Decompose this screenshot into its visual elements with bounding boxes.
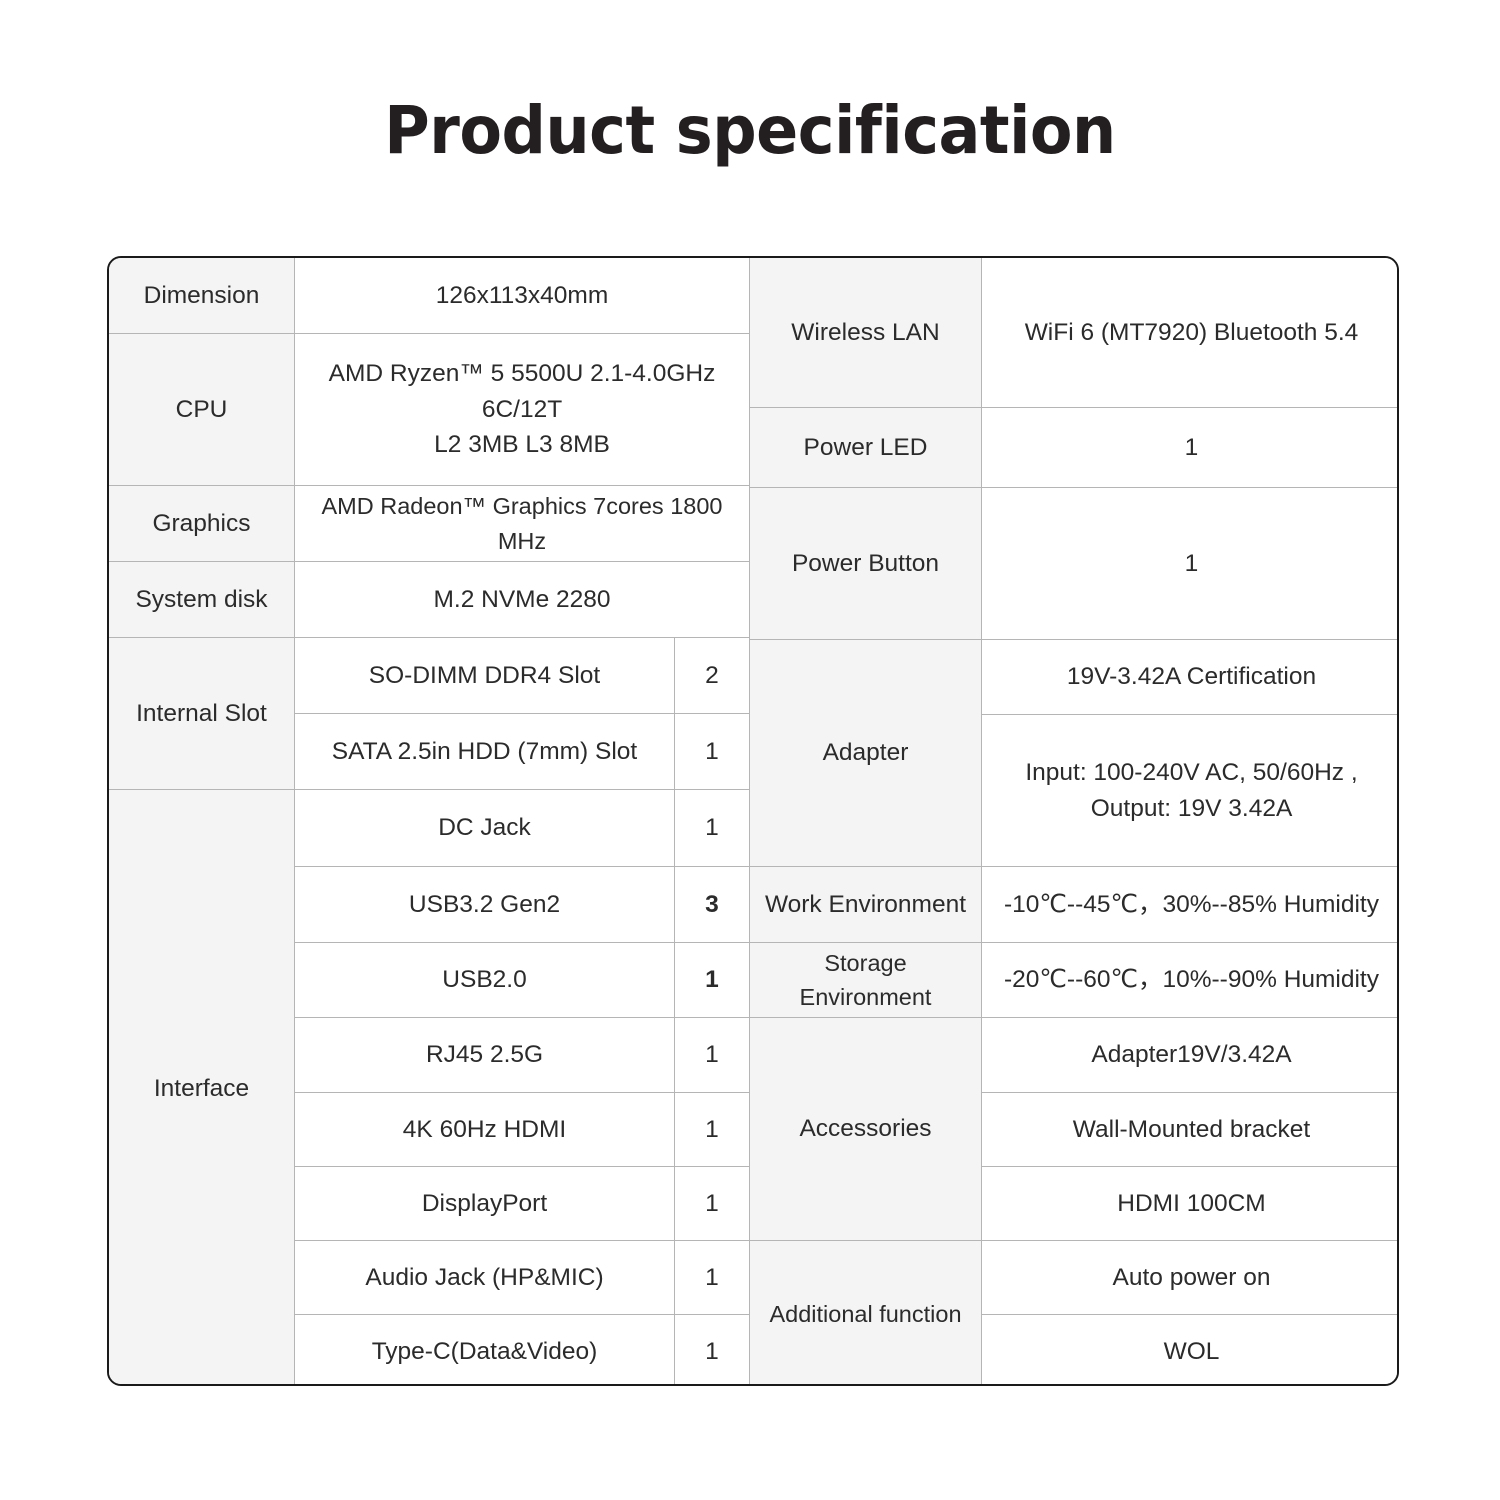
spec-value-dc-jack: DC Jack [295, 790, 675, 867]
spec-value-adapter-certification: 19V-3.42A Certification [982, 640, 1399, 715]
spec-value-wireless-lan: WiFi 6 (MT7920) Bluetooth 5.4 [982, 258, 1399, 408]
spec-value-work-environment: -10℃--45℃，30%--85% Humidity [982, 867, 1399, 943]
spec-label-interface: Interface [109, 790, 295, 1386]
product-specification-page: Product specification Dimension 126x113x… [0, 0, 1500, 1500]
spec-value-wol: WOL [982, 1315, 1399, 1386]
spec-label-internal-slot: Internal Slot [109, 638, 295, 790]
specification-table: Dimension 126x113x40mm CPU AMD Ryzen™ 5 … [107, 256, 1399, 1386]
spec-value-power-led: 1 [982, 408, 1399, 488]
spec-label-additional-function: Additional function [750, 1241, 982, 1386]
spec-label-power-button: Power Button [750, 488, 982, 640]
spec-qty-audio-jack: 1 [675, 1241, 750, 1315]
spec-qty-dc-jack: 1 [675, 790, 750, 867]
spec-label-work-environment: Work Environment [750, 867, 982, 943]
spec-label-accessories: Accessories [750, 1018, 982, 1241]
spec-value-accessory-bracket: Wall-Mounted bracket [982, 1093, 1399, 1167]
spec-value-graphics: AMD Radeon™ Graphics 7cores 1800 MHz [295, 486, 750, 562]
spec-value-accessory-hdmi-cable: HDMI 100CM [982, 1167, 1399, 1241]
spec-label-adapter: Adapter [750, 640, 982, 867]
spec-value-adapter-input-output: Input: 100-240V AC, 50/60Hz , Output: 19… [982, 715, 1399, 867]
spec-label-wireless-lan: Wireless LAN [750, 258, 982, 408]
spec-value-dimension: 126x113x40mm [295, 258, 750, 334]
spec-value-displayport: DisplayPort [295, 1167, 675, 1241]
spec-value-sodimm-slot: SO-DIMM DDR4 Slot [295, 638, 675, 714]
spec-qty-rj45: 1 [675, 1018, 750, 1093]
spec-qty-sodimm-slot: 2 [675, 638, 750, 714]
spec-value-system-disk: M.2 NVMe 2280 [295, 562, 750, 638]
spec-qty-usb32-gen2: 3 [675, 867, 750, 943]
spec-label-dimension: Dimension [109, 258, 295, 334]
spec-value-power-button: 1 [982, 488, 1399, 640]
spec-label-power-led: Power LED [750, 408, 982, 488]
spec-value-sata-slot: SATA 2.5in HDD (7mm) Slot [295, 714, 675, 790]
spec-qty-usb20: 1 [675, 943, 750, 1018]
spec-label-storage-environment: Storage Environment [750, 943, 982, 1018]
spec-label-cpu: CPU [109, 334, 295, 486]
spec-value-hdmi: 4K 60Hz HDMI [295, 1093, 675, 1167]
spec-value-rj45: RJ45 2.5G [295, 1018, 675, 1093]
spec-value-accessory-adapter: Adapter19V/3.42A [982, 1018, 1399, 1093]
spec-qty-type-c: 1 [675, 1315, 750, 1386]
spec-qty-displayport: 1 [675, 1167, 750, 1241]
spec-value-audio-jack: Audio Jack (HP&MIC) [295, 1241, 675, 1315]
spec-value-usb32-gen2: USB3.2 Gen2 [295, 867, 675, 943]
spec-value-cpu: AMD Ryzen™ 5 5500U 2.1-4.0GHz 6C/12T L2 … [295, 334, 750, 486]
spec-value-storage-environment: -20℃--60℃，10%--90% Humidity [982, 943, 1399, 1018]
spec-value-auto-power-on: Auto power on [982, 1241, 1399, 1315]
spec-label-graphics: Graphics [109, 486, 295, 562]
spec-qty-hdmi: 1 [675, 1093, 750, 1167]
spec-value-type-c: Type-C(Data&Video) [295, 1315, 675, 1386]
spec-qty-sata-slot: 1 [675, 714, 750, 790]
page-title: Product specification [45, 92, 1455, 169]
spec-value-usb20: USB2.0 [295, 943, 675, 1018]
spec-label-system-disk: System disk [109, 562, 295, 638]
